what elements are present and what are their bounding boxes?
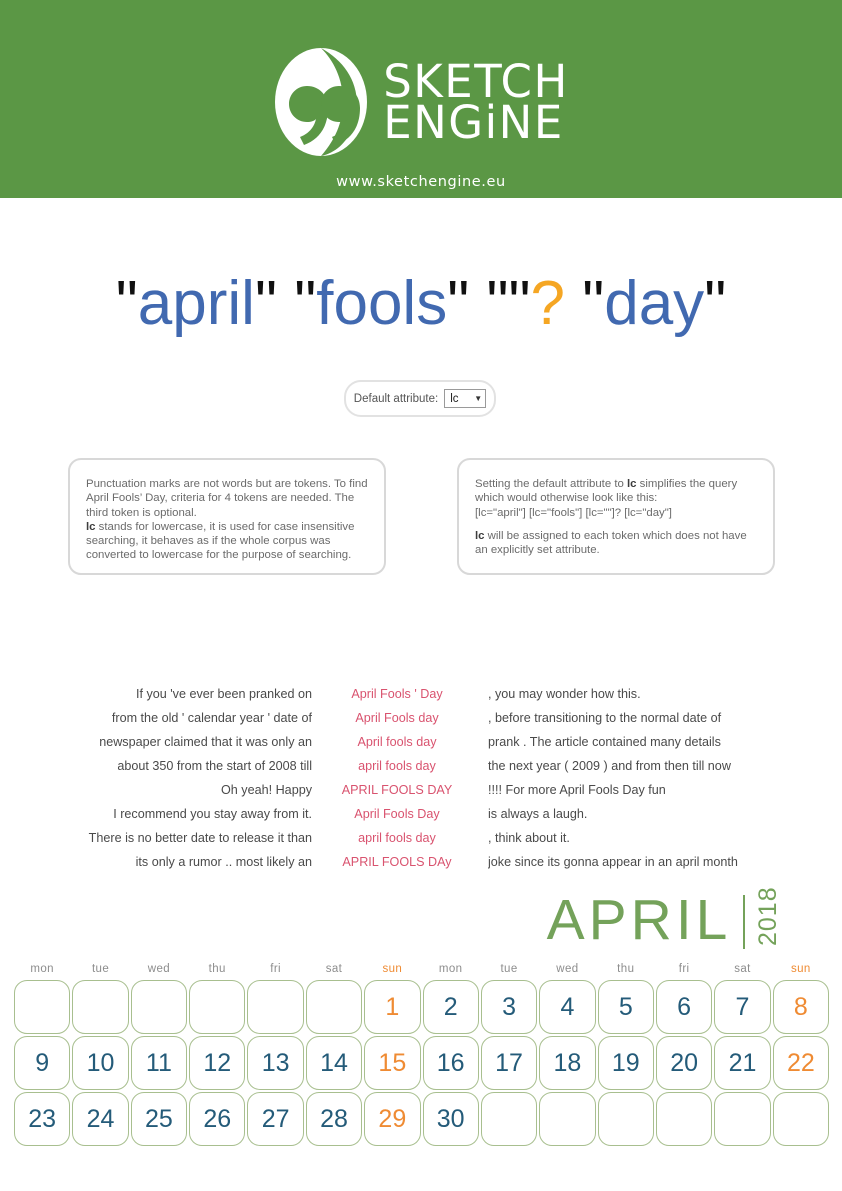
calendar-heading: APRIL 2018	[547, 893, 814, 953]
calendar-day-cell[interactable]: 9	[14, 1036, 70, 1090]
calendar-dayname-13: sun	[772, 963, 830, 975]
info-left-paragraph-2: lc stands for lowercase, it is used for …	[86, 520, 368, 563]
concordance-right-3: the next year ( 2009 ) and from then til…	[488, 754, 818, 778]
default-attribute-select[interactable]: lc ▼	[444, 389, 486, 408]
concordance-left-context: If you 've ever been pranked on from the…	[0, 682, 312, 874]
query-space-1	[277, 269, 294, 338]
info-right-query-example: [lc="april"] [lc="fools"] [lc=""]? [lc="…	[475, 506, 757, 520]
calendar-day-cell[interactable]	[714, 1092, 770, 1146]
calendar-day-cell[interactable]	[481, 1092, 537, 1146]
calendar-day-cell[interactable]: 10	[72, 1036, 128, 1090]
calendar-day-cell[interactable]	[131, 980, 187, 1034]
calendar-day-cell[interactable]: 20	[656, 1036, 712, 1090]
query-quote-open-1: "	[116, 269, 138, 338]
calendar-dayname-3: thu	[188, 963, 246, 975]
calendar-dayname-12: sat	[713, 963, 771, 975]
concordance-right-6: , think about it.	[488, 826, 818, 850]
info-right-paragraph-3: lc will be assigned to each token which …	[475, 529, 757, 558]
query-word-april: april	[138, 269, 255, 338]
concordance-kwic-4[interactable]: APRIL FOOLS DAY	[312, 778, 482, 802]
concordance-right-7: joke since its gonna appear in an april …	[488, 850, 818, 874]
calendar-heading-divider	[743, 895, 745, 949]
calendar-day-cell[interactable]: 26	[189, 1092, 245, 1146]
default-attribute-control[interactable]: Default attribute: lc ▼	[344, 380, 496, 417]
calendar-dayname-11: fri	[655, 963, 713, 975]
calendar-day-cell[interactable]: 18	[539, 1036, 595, 1090]
concordance-right-1: , before transitioning to the normal dat…	[488, 706, 818, 730]
calendar-day-cell[interactable]: 5	[598, 980, 654, 1034]
calendar-day-cell[interactable]: 23	[14, 1092, 70, 1146]
concordance-right-4: !!!! For more April Fools Day fun	[488, 778, 818, 802]
query-word-day: day	[604, 269, 704, 338]
query-space-2	[469, 269, 486, 338]
chevron-down-icon: ▼	[474, 395, 482, 403]
query-quote-open-2: "	[294, 269, 316, 338]
calendar-day-cell[interactable]	[306, 980, 362, 1034]
concordance-left-3: about 350 from the start of 2008 till	[0, 754, 312, 778]
concordance-kwic-5[interactable]: April Fools Day	[312, 802, 482, 826]
calendar-day-cell[interactable]	[247, 980, 303, 1034]
calendar-dayname-7: mon	[422, 963, 480, 975]
concordance-right-context: , you may wonder how this. , before tran…	[482, 682, 818, 874]
calendar-day-cell[interactable]: 29	[364, 1092, 420, 1146]
info-box-tokens: Punctuation marks are not words but are …	[68, 458, 386, 575]
calendar-day-cell[interactable]: 19	[598, 1036, 654, 1090]
concordance-right-0: , you may wonder how this.	[488, 682, 818, 706]
calendar-dayname-2: wed	[130, 963, 188, 975]
calendar-day-cell[interactable]: 8	[773, 980, 829, 1034]
logo-website-url: www.sketchengine.eu	[336, 174, 506, 190]
calendar-day-cell[interactable]	[72, 980, 128, 1034]
info-right-lc-bold-2: lc	[475, 530, 485, 542]
query-space-3	[565, 269, 582, 338]
calendar-dayname-9: wed	[538, 963, 596, 975]
concordance-left-0: If you 've ever been pranked on	[0, 682, 312, 706]
calendar-day-cell[interactable]: 12	[189, 1036, 245, 1090]
calendar-day-cell[interactable]: 27	[247, 1092, 303, 1146]
sketch-engine-logo: SKETCH ENGiNE www.sketchengine.eu	[0, 46, 842, 190]
calendar-day-cell[interactable]: 21	[714, 1036, 770, 1090]
info-right-spacer	[475, 520, 757, 529]
concordance-kwic-1[interactable]: April Fools day	[312, 706, 482, 730]
calendar-day-cell[interactable]	[773, 1092, 829, 1146]
calendar-day-cell[interactable]: 28	[306, 1092, 362, 1146]
calendar-dayname-1: tue	[71, 963, 129, 975]
calendar-dayname-8: tue	[480, 963, 538, 975]
calendar-month-label: APRIL	[547, 893, 732, 948]
cql-query-title: "april" "fools" ""? "day"	[0, 268, 842, 339]
default-attribute-label: Default attribute:	[354, 393, 438, 405]
calendar-day-cell[interactable]: 4	[539, 980, 595, 1034]
calendar-day-cell[interactable]: 6	[656, 980, 712, 1034]
concordance-kwic-0[interactable]: April Fools ' Day	[312, 682, 482, 706]
query-quote-close-2: "	[447, 269, 469, 338]
calendar-day-cell[interactable]	[189, 980, 245, 1034]
calendar-grid: mon tue wed thu fri sat sun mon tue wed …	[13, 963, 830, 1148]
calendar-dayname-10: thu	[597, 963, 655, 975]
calendar-day-cell[interactable]: 15	[364, 1036, 420, 1090]
calendar-day-cell[interactable]: 14	[306, 1036, 362, 1090]
calendar-week-row: 23 24 25 26 27 28 29 30	[13, 1092, 830, 1146]
concordance-left-6: There is no better date to release it th…	[0, 826, 312, 850]
calendar-dayname-6: sun	[363, 963, 421, 975]
quotes-logo-icon	[273, 46, 369, 158]
info-right-paragraph-1: Setting the default attribute to lc simp…	[475, 477, 757, 506]
calendar-day-cell[interactable]	[598, 1092, 654, 1146]
info-left-lc-bold: lc	[86, 521, 96, 533]
logo-row: SKETCH ENGiNE	[273, 46, 569, 158]
calendar-day-cell[interactable]: 7	[714, 980, 770, 1034]
calendar-week-row: 1 2 3 4 5 6 7 8	[13, 980, 830, 1034]
calendar-dayname-5: sat	[305, 963, 363, 975]
calendar-daynames-row: mon tue wed thu fri sat sun mon tue wed …	[13, 963, 830, 975]
query-optional-marker: ?	[530, 269, 564, 338]
concordance-lines: If you 've ever been pranked on from the…	[0, 682, 842, 874]
calendar-year-label: 2018	[756, 886, 781, 946]
concordance-keyword-column: April Fools ' Day April Fools day April …	[312, 682, 482, 874]
info-left-paragraph-2-rest: stands for lowercase, it is used for cas…	[86, 521, 354, 562]
calendar-day-cell[interactable]: 25	[131, 1092, 187, 1146]
query-quote-open-4: "	[582, 269, 604, 338]
concordance-kwic-6[interactable]: april fools day	[312, 826, 482, 850]
calendar-day-cell[interactable]	[656, 1092, 712, 1146]
calendar-day-cell[interactable]	[539, 1092, 595, 1146]
logo-wordmark: SKETCH ENGiNE	[383, 61, 569, 144]
info-right-p3-rest: will be assigned to each token which doe…	[475, 530, 747, 556]
concordance-left-2: newspaper claimed that it was only an	[0, 730, 312, 754]
concordance-left-7: its only a rumor .. most likely an	[0, 850, 312, 874]
concordance-right-2: prank . The article contained many detai…	[488, 730, 818, 754]
info-box-default-attribute: Setting the default attribute to lc simp…	[457, 458, 775, 575]
concordance-kwic-7[interactable]: APRIL FOOLS DAy	[312, 850, 482, 874]
calendar-day-cell[interactable]: 13	[247, 1036, 303, 1090]
query-empty-token: ""	[486, 269, 530, 338]
calendar-day-cell[interactable]: 11	[131, 1036, 187, 1090]
header-banner: SKETCH ENGiNE www.sketchengine.eu	[0, 0, 842, 198]
calendar-day-cell[interactable]: 22	[773, 1036, 829, 1090]
info-left-paragraph-1: Punctuation marks are not words but are …	[86, 477, 368, 520]
query-word-fools: fools	[316, 269, 447, 338]
calendar-day-cell[interactable]: 24	[72, 1092, 128, 1146]
concordance-left-1: from the old ' calendar year ' date of	[0, 706, 312, 730]
concordance-left-4: Oh yeah! Happy	[0, 778, 312, 802]
concordance-kwic-3[interactable]: april fools day	[312, 754, 482, 778]
concordance-kwic-2[interactable]: April fools day	[312, 730, 482, 754]
calendar-day-cell[interactable]: 2	[423, 980, 479, 1034]
calendar-week-row: 9 10 11 12 13 14 15 16 17 18 19 20 21 22	[13, 1036, 830, 1090]
calendar-dayname-4: fri	[246, 963, 304, 975]
concordance-left-5: I recommend you stay away from it.	[0, 802, 312, 826]
calendar-day-cell[interactable]: 16	[423, 1036, 479, 1090]
default-attribute-value: lc	[450, 393, 458, 405]
calendar-day-cell[interactable]: 3	[481, 980, 537, 1034]
query-quote-close-4: "	[704, 269, 726, 338]
logo-line-2: ENGiNE	[383, 102, 569, 143]
calendar-dayname-0: mon	[13, 963, 71, 975]
concordance-right-5: is always a laugh.	[488, 802, 818, 826]
calendar-day-cell[interactable]: 17	[481, 1036, 537, 1090]
calendar-day-cell[interactable]: 30	[423, 1092, 479, 1146]
query-quote-close-1: "	[255, 269, 277, 338]
info-right-p1-pre: Setting the default attribute to	[475, 478, 627, 490]
calendar-day-cell[interactable]	[14, 980, 70, 1034]
calendar-day-cell[interactable]: 1	[364, 980, 420, 1034]
